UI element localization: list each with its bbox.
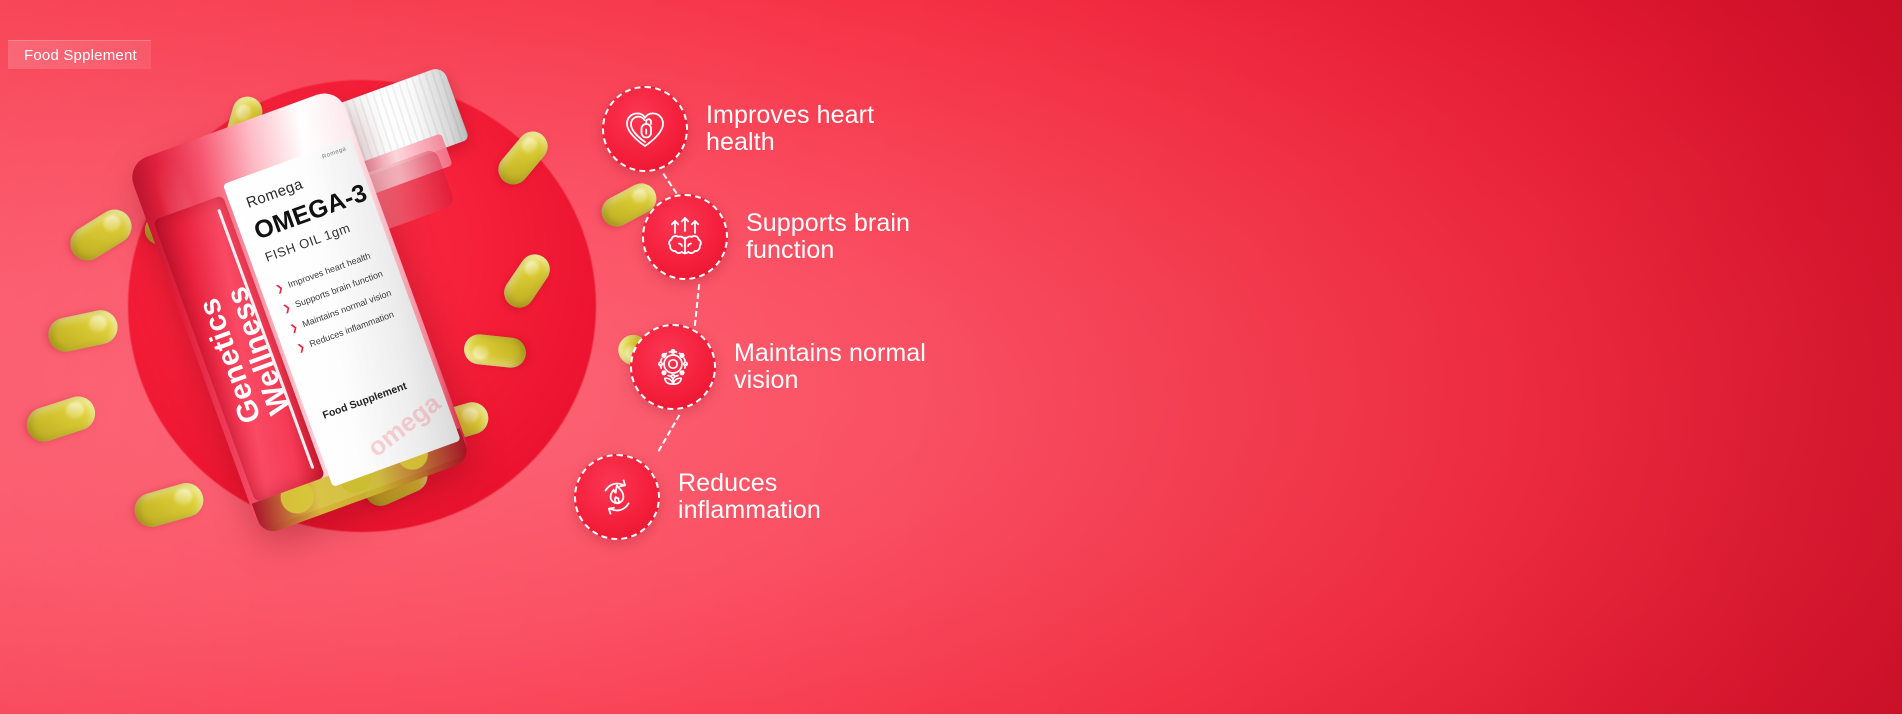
feature-label: Improves heart health	[706, 102, 874, 156]
food-supplement-tag-label: Food Spplement	[24, 47, 137, 64]
eye-vision-icon	[630, 324, 716, 410]
feature-item-vision[interactable]: Maintains normal vision	[630, 324, 926, 410]
heart-bullet-icon: ❯	[281, 302, 292, 315]
product-bottle: Genetics Wellness Romega Romega OMEGA-3 …	[150, 80, 550, 550]
heart-hand-icon	[602, 86, 688, 172]
heart-bullet-icon: ❯	[289, 322, 300, 335]
heart-bullet-icon: ❯	[296, 341, 307, 354]
feature-list: Improves heart health Supports brain fun…	[556, 86, 1116, 536]
heart-bullet-icon: ❯	[274, 282, 285, 295]
flame-reduce-icon	[574, 454, 660, 540]
food-supplement-tag[interactable]: Food Spplement	[8, 40, 151, 69]
brain-arrows-icon	[642, 194, 728, 280]
feature-label: Reduces inflammation	[678, 470, 821, 524]
feature-connector	[694, 284, 700, 326]
label-benefit-list: ❯ Improves heart health ❯ Supports brain…	[274, 244, 414, 363]
feature-item-brain[interactable]: Supports brain function	[642, 194, 910, 280]
feature-item-inflammation[interactable]: Reduces inflammation	[574, 454, 821, 540]
label-tiny-text: Romega	[322, 146, 348, 160]
feature-item-heart[interactable]: Improves heart health	[602, 86, 874, 172]
feature-label: Supports brain function	[746, 210, 910, 264]
feature-label: Maintains normal vision	[734, 340, 926, 394]
feature-connector	[658, 414, 681, 451]
promo-banner: Food Spplement Genetics Wellness	[0, 0, 1902, 714]
